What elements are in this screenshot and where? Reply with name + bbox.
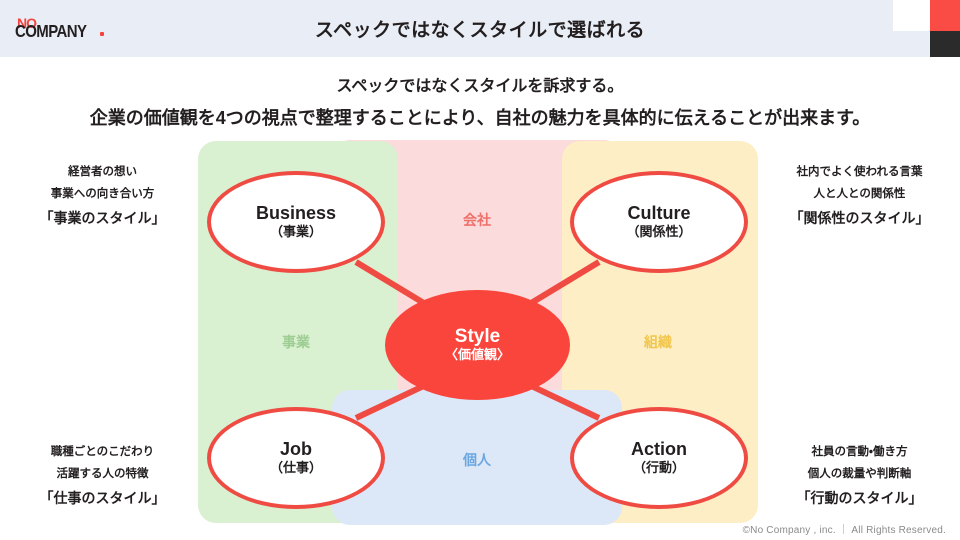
annotation-job-line2: 活躍する人の特徴 (5, 464, 200, 486)
annotation-job-line1: 職種ごとのこだわり (5, 442, 200, 464)
node-style-subtitle: 〈価値観〉 (445, 347, 510, 364)
annotation-action: 社員の言動・働き方 個人の裁量や判断軸 「行動のスタイル」 (762, 442, 957, 511)
node-style-center[interactable]: Style 〈価値観〉 (385, 290, 570, 400)
node-job-subtitle: （仕事） (270, 460, 322, 477)
annotation-business: 経営者の想い 事業への向き合い方 「事業のスタイル」 (5, 162, 200, 231)
annotation-culture-line2: 人と人との関係性 (762, 184, 957, 206)
node-job[interactable]: Job （仕事） (207, 407, 385, 509)
annotation-job: 職種ごとのこだわり 活躍する人の特徴 「仕事のスタイル」 (5, 442, 200, 511)
annotation-job-line3: 「仕事のスタイル」 (5, 486, 200, 511)
node-business[interactable]: Business （事業） (207, 171, 385, 273)
node-action[interactable]: Action （行動） (570, 407, 748, 509)
annotation-action-line2: 個人の裁量や判断軸 (762, 464, 957, 486)
annotation-culture-line3: 「関係性のスタイル」 (762, 206, 957, 231)
footer-copyright: ©No Company , inc. ｜ All Rights Reserved… (743, 521, 946, 536)
node-culture-title: Culture (628, 203, 691, 224)
node-culture-subtitle: （関係性） (626, 224, 691, 241)
annotation-business-line3: 「事業のスタイル」 (5, 206, 200, 231)
annotation-business-line1: 経営者の想い (5, 162, 200, 184)
node-action-subtitle: （行動） (633, 460, 685, 477)
annotation-business-line2: 事業への向き合い方 (5, 184, 200, 206)
node-business-title: Business (256, 203, 336, 224)
node-action-title: Action (631, 439, 687, 460)
node-style-title: Style (455, 326, 500, 348)
node-culture[interactable]: Culture （関係性） (570, 171, 748, 273)
annotation-action-line1: 社員の言動・働き方 (762, 442, 957, 464)
annotation-culture: 社内でよく使われる言葉 人と人との関係性 「関係性のスタイル」 (762, 162, 957, 231)
annotation-culture-line1: 社内でよく使われる言葉 (762, 162, 957, 184)
annotation-action-line3: 「行動のスタイル」 (762, 486, 957, 511)
node-job-title: Job (280, 439, 312, 460)
node-business-subtitle: （事業） (270, 224, 322, 241)
